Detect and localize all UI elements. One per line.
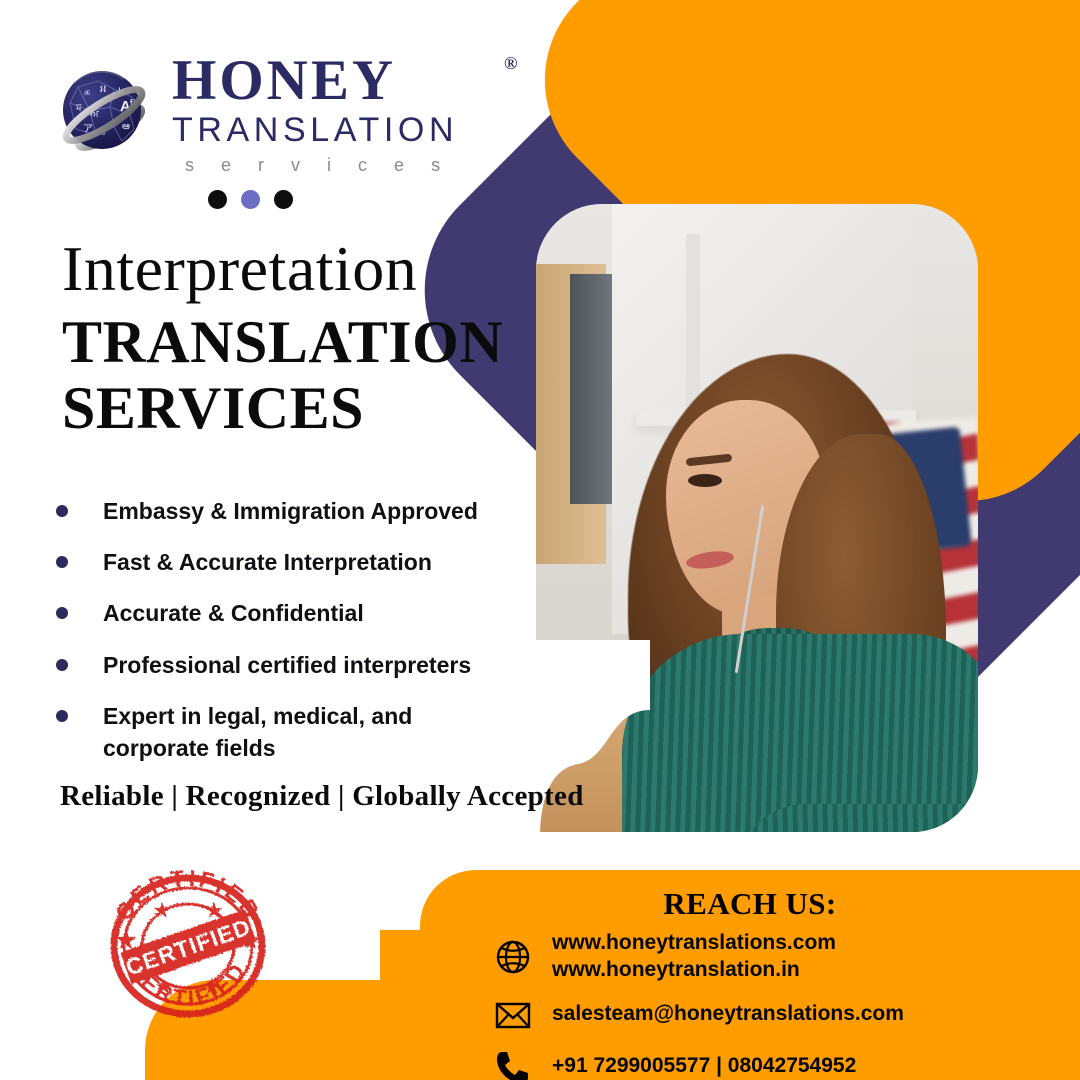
contact-title: REACH US: <box>420 886 1080 922</box>
logo-wordmark: HONEY ® TRANSLATION s e r v i c e s <box>172 48 458 176</box>
photo-sweater <box>622 634 978 832</box>
dot-1 <box>208 190 227 209</box>
feature-text: Expert in legal, medical, and corporate … <box>103 700 453 764</box>
dot-3 <box>274 190 293 209</box>
contact-row-email[interactable]: salesteam@honeytranslations.com <box>492 994 904 1036</box>
feature-text: Embassy & Immigration Approved <box>103 495 478 527</box>
decorative-dots <box>208 190 293 209</box>
bullet-dot-icon <box>56 505 68 517</box>
globe-icon <box>492 936 534 978</box>
list-item: Expert in legal, medical, and corporate … <box>56 700 526 764</box>
contact-email-text[interactable]: salesteam@honeytranslations.com <box>552 1001 904 1028</box>
bullet-dot-icon <box>56 710 68 722</box>
list-item: Accurate & Confidential <box>56 597 526 629</box>
headline-main-line1: TRANSLATION <box>62 309 503 375</box>
list-item: Fast & Accurate Interpretation <box>56 546 526 578</box>
dot-2 <box>241 190 260 209</box>
contact-row-phone[interactable]: +91 7299005577 | 08042754952 <box>492 1046 904 1080</box>
headline-main-line2: SERVICES <box>62 375 503 441</box>
website-line-2[interactable]: www.honeytranslation.in <box>552 958 800 981</box>
feature-text: Accurate & Confidential <box>103 597 364 629</box>
poster-canvas: க អ ا ম ਅ A हि ア ಕ ఆ HONEY ® TRANSLATIO <box>0 0 1080 1080</box>
contact-list: www.honeytranslations.com www.honeytrans… <box>492 930 904 1080</box>
certified-stamp: CERTIFIED CERTIFIED CERTIFIED <box>100 868 276 1020</box>
photo-eye <box>688 474 722 487</box>
contact-website-text: www.honeytranslations.com www.honeytrans… <box>552 930 836 984</box>
contact-phone-text[interactable]: +91 7299005577 | 08042754952 <box>552 1053 856 1080</box>
logo-tertiary-name: s e r v i c e s <box>172 155 458 176</box>
bullet-dot-icon <box>56 556 68 568</box>
headline-block: Interpretation TRANSLATION SERVICES <box>62 236 503 441</box>
list-item: Embassy & Immigration Approved <box>56 495 526 527</box>
contact-panel: REACH US: www.honeytranslations.com www.… <box>420 870 1080 1080</box>
feature-text: Fast & Accurate Interpretation <box>103 546 432 578</box>
feature-list: Embassy & Immigration Approved Fast & Ac… <box>56 495 526 783</box>
feature-text: Professional certified interpreters <box>103 649 471 681</box>
bullet-dot-icon <box>56 607 68 619</box>
svg-text:க: க <box>84 87 90 98</box>
phone-icon <box>492 1046 534 1080</box>
website-line-1[interactable]: www.honeytranslations.com <box>552 931 836 954</box>
envelope-icon <box>492 994 534 1036</box>
brand-logo[interactable]: க អ ا ম ਅ A हि ア ಕ ఆ HONEY ® TRANSLATIO <box>52 48 458 176</box>
photo-shelf-dark <box>570 274 612 504</box>
svg-text:អ: អ <box>100 84 106 95</box>
contact-row-website[interactable]: www.honeytranslations.com www.honeytrans… <box>492 930 904 984</box>
globe-logo-icon: க អ ا ম ਅ A हि ア ಕ ఆ <box>52 59 158 165</box>
bullet-dot-icon <box>56 659 68 671</box>
logo-primary-name: HONEY <box>172 52 396 109</box>
svg-text:ఆ: ఆ <box>122 121 130 132</box>
logo-secondary-name: TRANSLATION <box>172 111 458 150</box>
list-item: Professional certified interpreters <box>56 649 526 681</box>
headline-script: Interpretation <box>62 236 503 301</box>
tagline: Reliable | Recognized | Globally Accepte… <box>60 780 584 813</box>
